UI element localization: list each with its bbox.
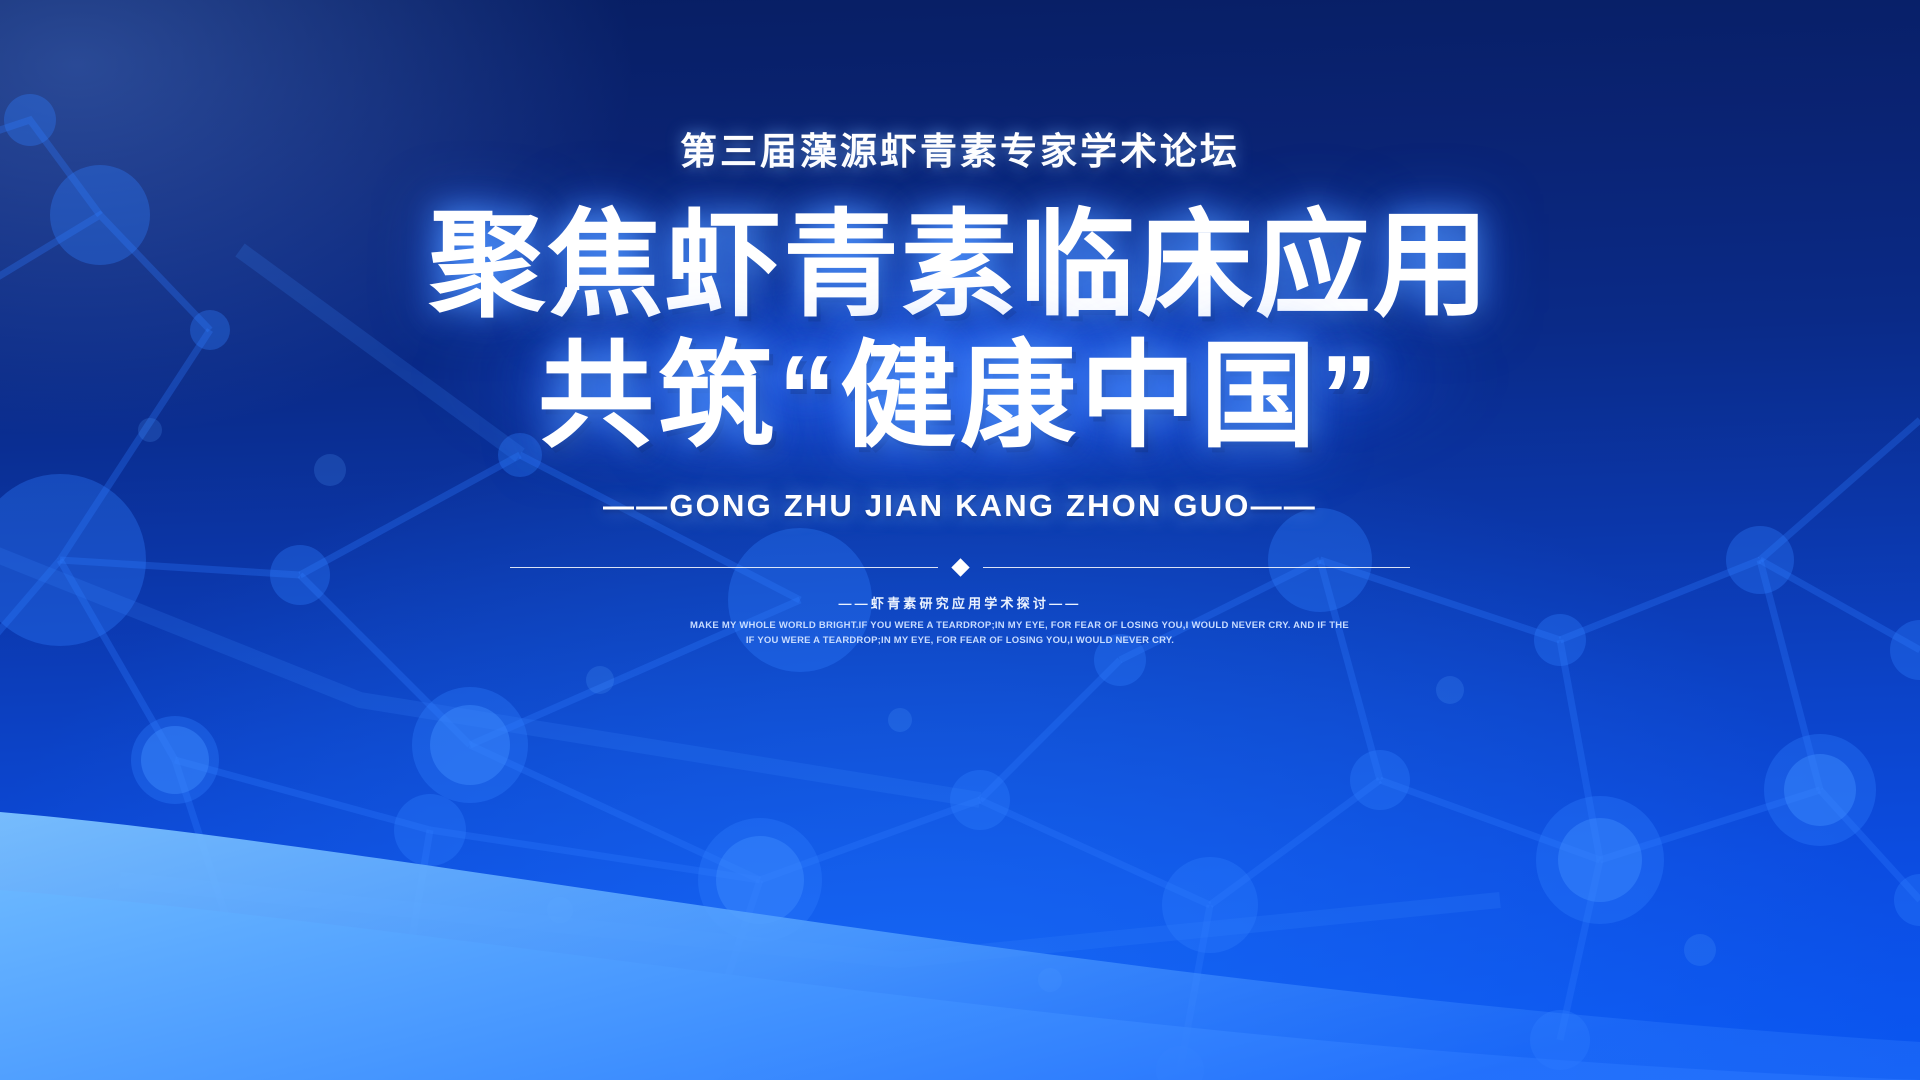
divider bbox=[510, 561, 1410, 574]
diamond-icon bbox=[951, 558, 969, 576]
divider-rule-right bbox=[983, 567, 1411, 568]
headline-line-1: 聚焦虾青素临床应用 bbox=[429, 200, 1491, 331]
blurb-line-1: MAKE MY WHOLE WORLD BRIGHT.IF YOU WERE A… bbox=[690, 619, 1230, 634]
sub-chinese-caption: ——虾青素研究应用学术探讨—— bbox=[838, 593, 1081, 612]
poster-content: 第三届藻源虾青素专家学术论坛 聚焦虾青素临床应用 共筑“健康中国” ——GONG… bbox=[0, 0, 1920, 1080]
page-title: 聚焦虾青素临床应用 共筑“健康中国” bbox=[429, 200, 1491, 462]
blurb-line-2: IF YOU WERE A TEARDROP;IN MY EYE, FOR FE… bbox=[690, 634, 1230, 649]
eyebrow-title: 第三届藻源虾青素专家学术论坛 bbox=[680, 133, 1240, 170]
headline-line-2: 共筑“健康中国” bbox=[429, 331, 1491, 462]
divider-rule-left bbox=[510, 567, 938, 568]
pinyin-subtitle: ——GONG ZHU JIAN KANG ZHON GUO—— bbox=[603, 488, 1317, 524]
poster-canvas: 第三届藻源虾青素专家学术论坛 聚焦虾青素临床应用 共筑“健康中国” ——GONG… bbox=[0, 0, 1920, 1080]
blurb-text: MAKE MY WHOLE WORLD BRIGHT.IF YOU WERE A… bbox=[690, 619, 1230, 648]
